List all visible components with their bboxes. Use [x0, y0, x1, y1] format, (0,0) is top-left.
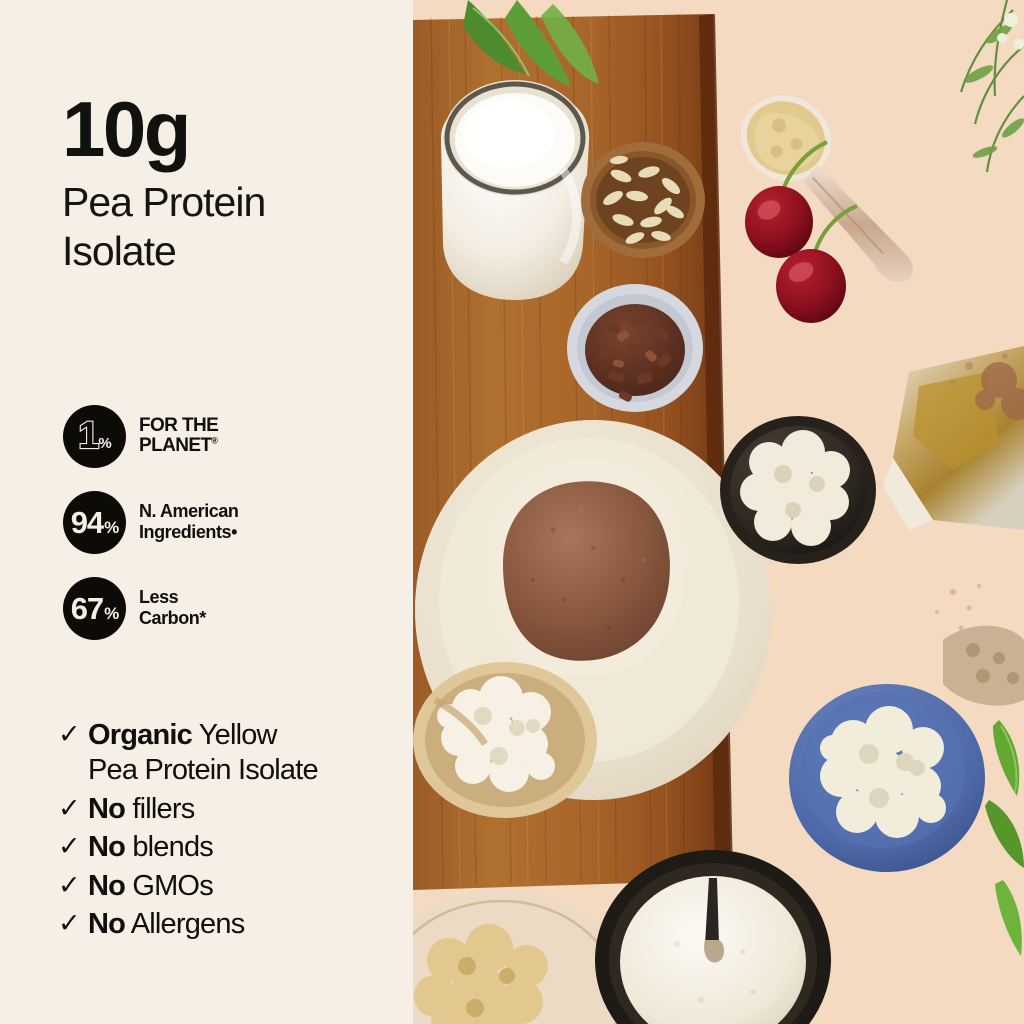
list-item-rest: Allergens [125, 908, 244, 940]
list-item-wrap: Pea Protein Isolate [88, 754, 318, 786]
list-item-label: No Allergens [88, 907, 244, 942]
list-item-rest: GMOs [125, 870, 213, 902]
badge-number: 1 [78, 417, 98, 455]
badge-number: 94 [71, 507, 103, 538]
north-american-ingredients-icon: 94% [63, 491, 126, 554]
list-item: ✓ No Allergens [58, 907, 408, 942]
badge-number: 67 [71, 593, 103, 624]
list-item-emphasis: No [88, 870, 125, 902]
list-item-emphasis: No [88, 831, 125, 863]
badge-label-line-1: N. American [139, 501, 238, 522]
list-item: ✓ Organic YellowPea Protein Isolate [58, 718, 408, 789]
badge-percent: % [104, 605, 118, 622]
list-item: ✓ No fillers [58, 792, 408, 827]
check-icon: ✓ [58, 869, 88, 902]
badge-label-line-2: Carbon* [139, 608, 206, 629]
registered-mark: ® [211, 436, 217, 446]
headline-line-1: Pea Protein [62, 178, 265, 227]
badge-label-line-1: Less [139, 587, 206, 608]
check-icon: ✓ [58, 792, 88, 825]
badge-label-line-2: PLANET® [139, 436, 218, 456]
badge-one-percent-for-the-planet: 1% FOR THE PLANET® [63, 404, 238, 468]
check-icon: ✓ [58, 718, 88, 751]
list-item-label: No fillers [88, 792, 194, 827]
ingredient-flatlay-photo [413, 0, 1024, 1024]
badge-label: N. American Ingredients• [139, 501, 238, 543]
badge-less-carbon: 67% Less Carbon* [63, 576, 238, 640]
badge-label-line-2: Ingredients• [139, 522, 238, 543]
list-item-label: No blends [88, 830, 213, 865]
feature-checklist: ✓ Organic YellowPea Protein Isolate ✓ No… [58, 718, 408, 945]
badge-label-line-1: FOR THE [139, 416, 218, 436]
list-item-rest: Yellow [192, 719, 277, 751]
list-item-emphasis: Organic [88, 719, 192, 751]
badge-north-american-ingredients: 94% N. American Ingredients• [63, 490, 238, 554]
less-carbon-icon: 67% [63, 577, 126, 640]
product-info-graphic: 10g Pea Protein Isolate 1% FOR THE PLANE… [0, 0, 1024, 1024]
badge-label: Less Carbon* [139, 587, 206, 629]
claim-badges: 1% FOR THE PLANET® 94% N. American Ingr [63, 404, 238, 662]
headline-line-2: Isolate [62, 227, 265, 276]
check-icon: ✓ [58, 907, 88, 940]
list-item-rest: fillers [125, 793, 194, 825]
protein-grams: 10g [62, 92, 265, 166]
one-percent-for-the-planet-icon: 1% [63, 405, 126, 468]
headline-block: 10g Pea Protein Isolate [62, 92, 265, 276]
badge-percent: % [104, 519, 118, 536]
list-item: ✓ No blends [58, 830, 408, 865]
check-icon: ✓ [58, 830, 88, 863]
badge-percent: % [98, 436, 110, 451]
info-panel: 10g Pea Protein Isolate 1% FOR THE PLANE… [0, 0, 413, 1024]
list-item-emphasis: No [88, 908, 125, 940]
list-item: ✓ No GMOs [58, 869, 408, 904]
list-item-rest: blends [125, 831, 213, 863]
badge-label: FOR THE PLANET® [139, 416, 218, 456]
list-item-label: No GMOs [88, 869, 213, 904]
list-item-emphasis: No [88, 793, 125, 825]
list-item-label: Organic YellowPea Protein Isolate [88, 718, 318, 789]
